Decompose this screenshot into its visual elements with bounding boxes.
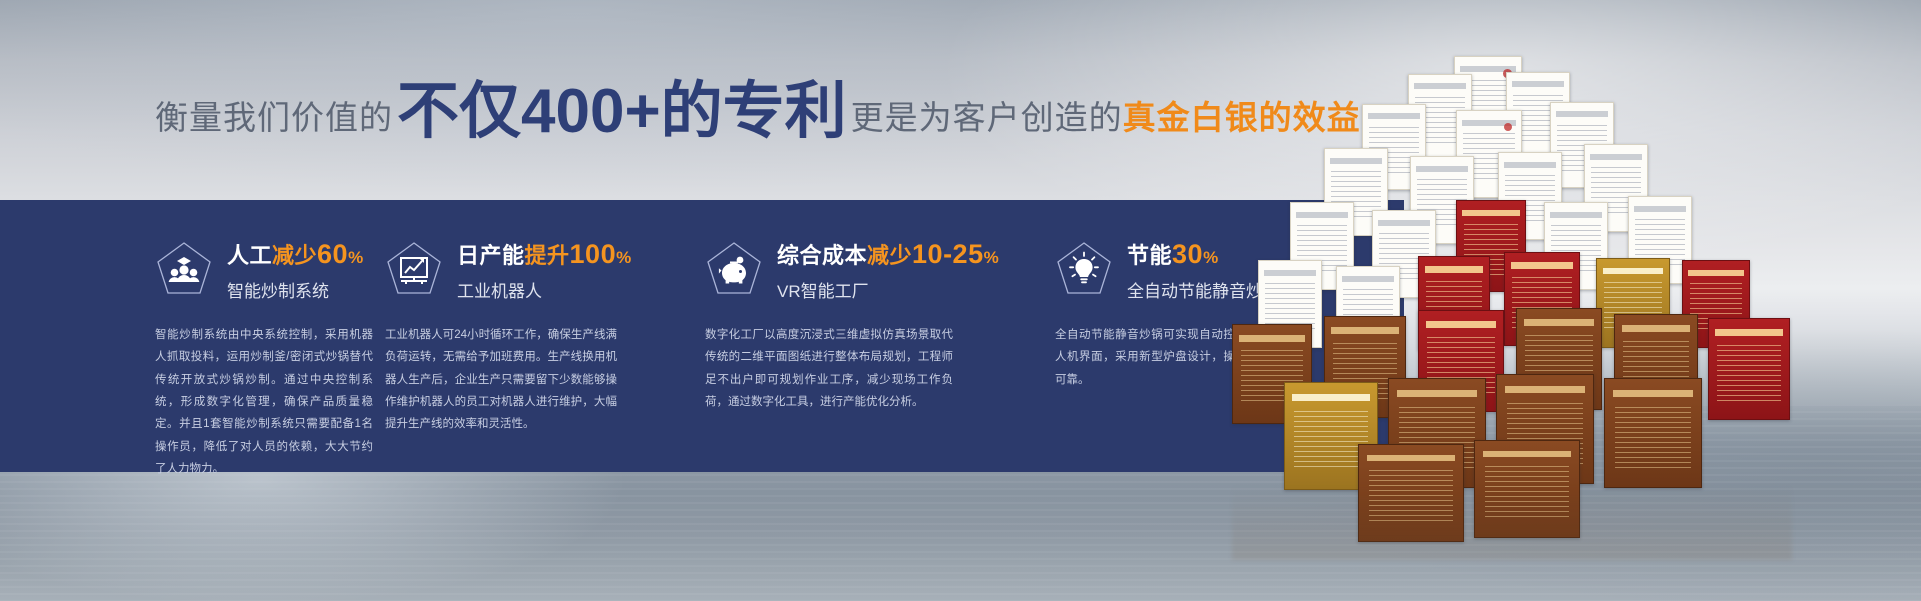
headline: 衡量我们价值的 不仅400+的专利 更是为客户创造的 真金白银的效益: [155, 78, 1361, 140]
feature-2-body: 工业机器人可24小时循环工作，确保生产线满负荷运转，无需给予加班费用。生产线换用…: [385, 324, 617, 436]
certificate-award-stack: [1232, 52, 1792, 532]
feature-3-titles: 综合成本减少10-25% VR智能工厂: [777, 238, 999, 302]
feature-block-1[interactable]: 人工减少60% 智能炒制系统 智能炒制系统由中央系统控制，采用机器人抓取投料，运…: [0, 200, 340, 472]
feature-2-title-unit: %: [616, 248, 632, 267]
feature-3-title-unit: %: [984, 248, 1000, 267]
feature-3-title: 综合成本减少10-25%: [777, 240, 999, 270]
feature-2-header: 日产能提升100% 工业机器人: [385, 238, 660, 302]
feature-1-header: 人工减少60% 智能炒制系统: [155, 238, 340, 302]
feature-2-titles: 日产能提升100% 工业机器人: [457, 238, 632, 302]
feature-3-subtitle: VR智能工厂: [777, 277, 999, 302]
feature-2-title-keyword: 提升: [525, 243, 570, 268]
banner-stage: 衡量我们价值的 不仅400+的专利 更是为客户创造的 真金白银的效益: [0, 0, 1921, 601]
lightbulb-icon: [1055, 240, 1113, 298]
certificate-reflection: [1232, 470, 1792, 560]
headline-emphasis: 不仅400+的专利: [397, 81, 847, 143]
feature-3-title-keyword: 减少: [867, 243, 912, 268]
headline-lead: 衡量我们价值的: [155, 91, 393, 139]
feature-2-title-prefix: 日产能: [457, 243, 525, 268]
feature-1-title-prefix: 人工: [227, 243, 272, 268]
feature-2-title: 日产能提升100%: [457, 240, 632, 270]
award-plaque-item: [1708, 318, 1790, 420]
feature-block-2[interactable]: 日产能提升100% 工业机器人 工业机器人可24小时循环工作，确保生产线满负荷运…: [340, 200, 660, 472]
feature-1-title-keyword: 减少: [272, 243, 317, 268]
feature-block-3[interactable]: 综合成本减少10-25% VR智能工厂 数字化工厂以高度沉浸式三维虚拟仿真场景取…: [660, 200, 1010, 472]
feature-2-subtitle: 工业机器人: [457, 277, 632, 302]
feature-panel: 人工减少60% 智能炒制系统 智能炒制系统由中央系统控制，采用机器人抓取投料，运…: [0, 200, 1404, 472]
feature-3-title-prefix: 综合成本: [777, 243, 867, 268]
feature-4-title-prefix: 节能: [1127, 243, 1172, 268]
feature-2-title-number: 100: [570, 239, 617, 269]
feature-3-title-number: 10-25: [912, 239, 984, 269]
headline-middle: 更是为客户创造的: [851, 91, 1123, 139]
feature-3-body: 数字化工厂以高度沉浸式三维虚拟仿真场景取代传统的二维平面图纸进行整体布局规划，工…: [705, 324, 953, 414]
feature-4-title-number: 30: [1172, 239, 1203, 269]
feature-4-title-unit: %: [1203, 248, 1219, 267]
chart-board-icon: [385, 240, 443, 298]
piggy-bank-icon: [705, 240, 763, 298]
people-group-icon: [155, 240, 213, 298]
feature-3-header: 综合成本减少10-25% VR智能工厂: [705, 238, 1010, 302]
